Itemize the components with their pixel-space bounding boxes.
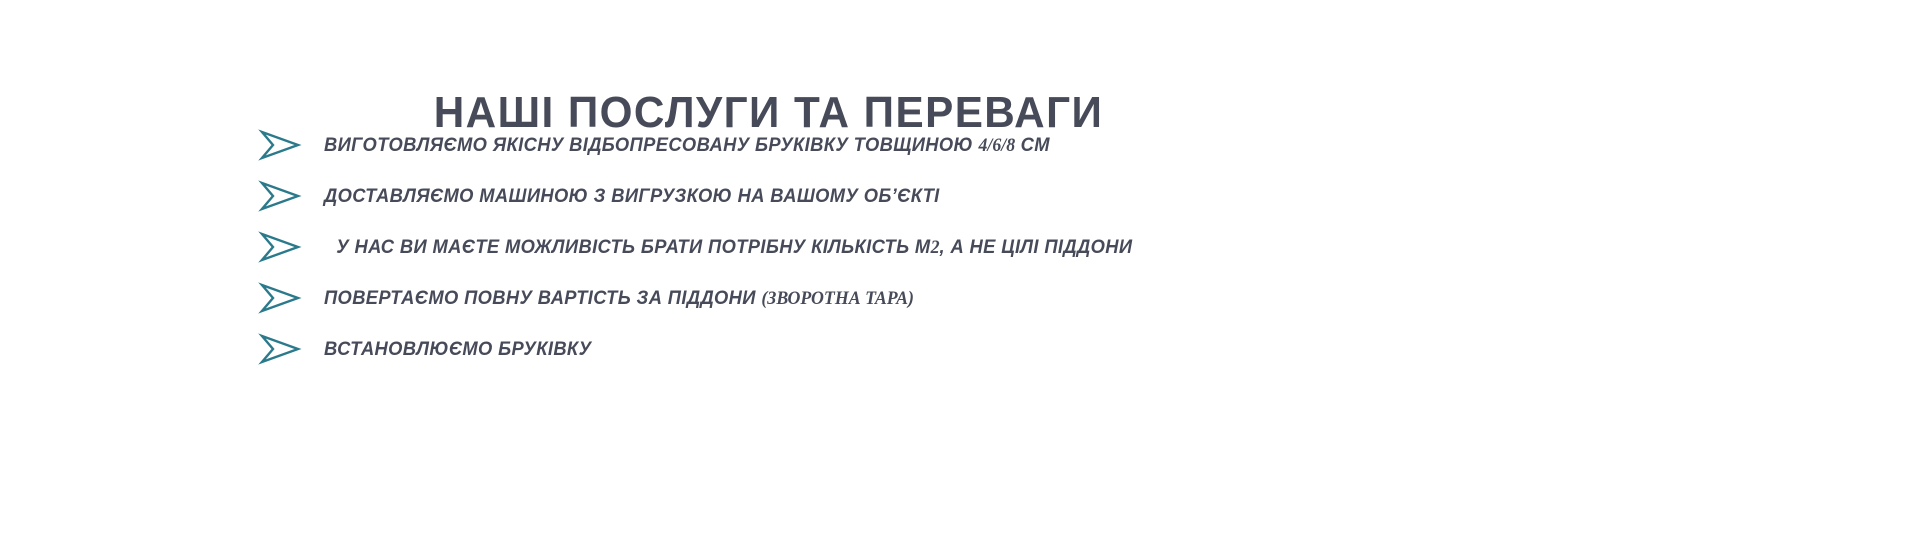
- list-item-label-tail: СМ: [1015, 134, 1050, 156]
- arrow-chevron-icon: [258, 179, 302, 213]
- arrow-chevron-icon: [258, 332, 302, 366]
- list-item-label-emphasis: 2: [931, 237, 940, 258]
- list-item-label: ВСТАНОВЛЮЄМО БРУКІВКУ: [324, 338, 591, 360]
- benefits-list: ВИГОТОВЛЯЄМО ЯКІСНУ ВІДБОПРЕСОВАНУ БРУКІ…: [258, 128, 1538, 366]
- list-item-label-main: ДОСТАВЛЯЄМО МАШИНОЮ З ВИГРУЗКОЮ НА ВАШОМ…: [324, 185, 940, 207]
- list-item: ВСТАНОВЛЮЄМО БРУКІВКУ: [258, 332, 1538, 366]
- list-item: ДОСТАВЛЯЄМО МАШИНОЮ З ВИГРУЗКОЮ НА ВАШОМ…: [258, 179, 1538, 213]
- list-item-label-main: ВИГОТОВЛЯЄМО ЯКІСНУ ВІДБОПРЕСОВАНУ БРУКІ…: [324, 134, 978, 156]
- list-item-label-main: ПОВЕРТАЄМО ПОВНУ ВАРТІСТЬ ЗА ПІДДОНИ: [324, 287, 761, 309]
- list-item-label-emphasis: (ЗВОРОТНА ТАРА): [761, 288, 914, 309]
- list-item-label-emphasis: 4/6/8: [978, 135, 1015, 156]
- list-item: У НАС ВИ МАЄТЕ МОЖЛИВІСТЬ БРАТИ ПОТРІБНУ…: [258, 230, 1538, 264]
- arrow-chevron-icon: [258, 128, 302, 162]
- services-benefits-section: НАШІ ПОСЛУГИ ТА ПЕРЕВАГИ ВИГОТОВЛЯЄМО ЯК…: [0, 0, 1920, 550]
- list-item-label: У НАС ВИ МАЄТЕ МОЖЛИВІСТЬ БРАТИ ПОТРІБНУ…: [324, 236, 1132, 259]
- arrow-chevron-icon: [258, 230, 302, 264]
- arrow-chevron-icon: [258, 281, 302, 315]
- list-item-label: ПОВЕРТАЄМО ПОВНУ ВАРТІСТЬ ЗА ПІДДОНИ (ЗВ…: [324, 287, 914, 310]
- list-item-label-main: У НАС ВИ МАЄТЕ МОЖЛИВІСТЬ БРАТИ ПОТРІБНУ…: [336, 236, 930, 258]
- list-item-label-main: ВСТАНОВЛЮЄМО БРУКІВКУ: [324, 338, 591, 360]
- list-item: ПОВЕРТАЄМО ПОВНУ ВАРТІСТЬ ЗА ПІДДОНИ (ЗВ…: [258, 281, 1538, 315]
- list-item-label: ДОСТАВЛЯЄМО МАШИНОЮ З ВИГРУЗКОЮ НА ВАШОМ…: [324, 185, 940, 207]
- list-item-label-tail: , А НЕ ЦІЛІ ПІДДОНИ: [940, 236, 1133, 258]
- list-item: ВИГОТОВЛЯЄМО ЯКІСНУ ВІДБОПРЕСОВАНУ БРУКІ…: [258, 128, 1538, 162]
- list-item-label: ВИГОТОВЛЯЄМО ЯКІСНУ ВІДБОПРЕСОВАНУ БРУКІ…: [324, 134, 1050, 157]
